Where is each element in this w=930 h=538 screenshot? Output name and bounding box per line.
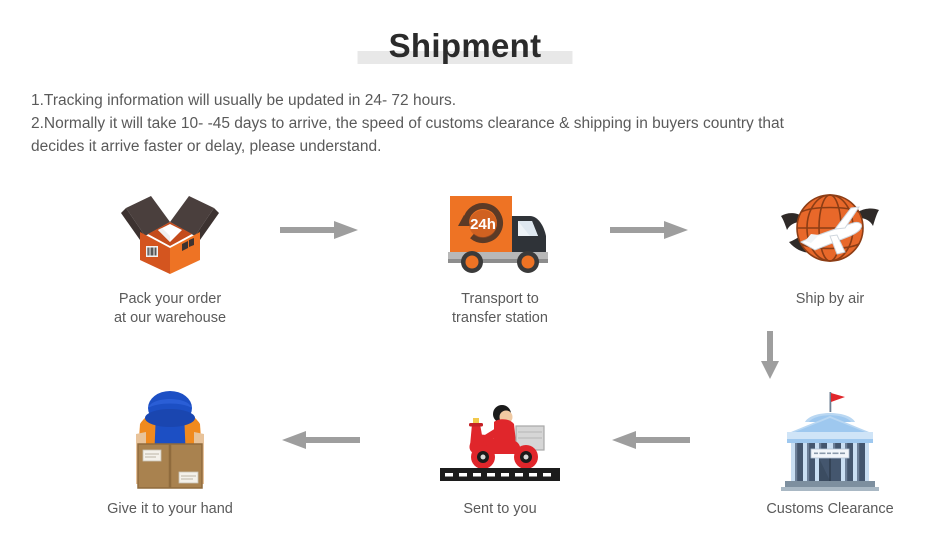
step-label-line2: transfer station <box>452 309 548 328</box>
step-label: Customs Clearance <box>766 500 893 519</box>
vertical-connector-row <box>0 328 930 384</box>
courier-with-parcel-icon <box>116 390 224 490</box>
step-transport-transfer: 24h Transport to t <box>400 180 600 328</box>
page-header: Shipment <box>0 0 930 74</box>
arrow-customs-to-scooter <box>600 390 700 490</box>
delivery-truck-icon: 24h <box>444 180 556 280</box>
step-label-line1: Customs Clearance <box>766 501 893 517</box>
page-title: Shipment <box>389 29 542 74</box>
step-label-line1: Ship by air <box>796 291 865 307</box>
arrow-transport-to-air <box>600 180 700 280</box>
arrow-pack-to-transport <box>270 180 370 280</box>
step-label: Pack your order at our warehouse <box>114 290 226 328</box>
step-label: Sent to you <box>463 500 536 519</box>
step-label-line2: at our warehouse <box>114 309 226 328</box>
globe-airplane-icon <box>775 180 885 280</box>
step-label: Ship by air <box>796 290 865 309</box>
step-label-line1: Pack your order <box>119 291 221 307</box>
policy-line-2: 2.Normally it will take 10- -45 days to … <box>31 112 901 135</box>
scooter-courier-icon <box>440 390 560 490</box>
step-customs-clearance: Customs Clearance <box>730 390 930 519</box>
step-give-to-hand: Give it to your hand <box>70 390 270 519</box>
shipping-policy-text: 1.Tracking information will usually be u… <box>31 89 901 158</box>
step-label: Transport to transfer station <box>452 290 548 328</box>
open-box-icon <box>118 180 222 280</box>
step-label-line1: Give it to your hand <box>107 501 233 517</box>
step-label: Give it to your hand <box>107 500 233 519</box>
customs-building-icon <box>775 390 885 490</box>
step-sent-to-you: Sent to you <box>400 390 600 519</box>
arrow-scooter-to-hand <box>270 390 370 490</box>
truck-badge-text: 24h <box>470 216 496 233</box>
connector-spacer <box>0 328 600 384</box>
step-label-line1: Sent to you <box>463 501 536 517</box>
shipment-process-flow: Pack your order at our warehouse <box>0 180 930 519</box>
step-pack-order: Pack your order at our warehouse <box>70 180 270 328</box>
process-row-top: Pack your order at our warehouse <box>0 180 930 328</box>
process-row-bottom: Give it to your hand <box>0 390 930 519</box>
step-ship-by-air: Ship by air <box>730 180 930 309</box>
policy-line-3: decides it arrive faster or delay, pleas… <box>31 135 901 158</box>
policy-line-1: 1.Tracking information will usually be u… <box>31 89 901 112</box>
arrow-air-to-customs <box>670 328 870 384</box>
step-label-line1: Transport to <box>461 291 539 307</box>
